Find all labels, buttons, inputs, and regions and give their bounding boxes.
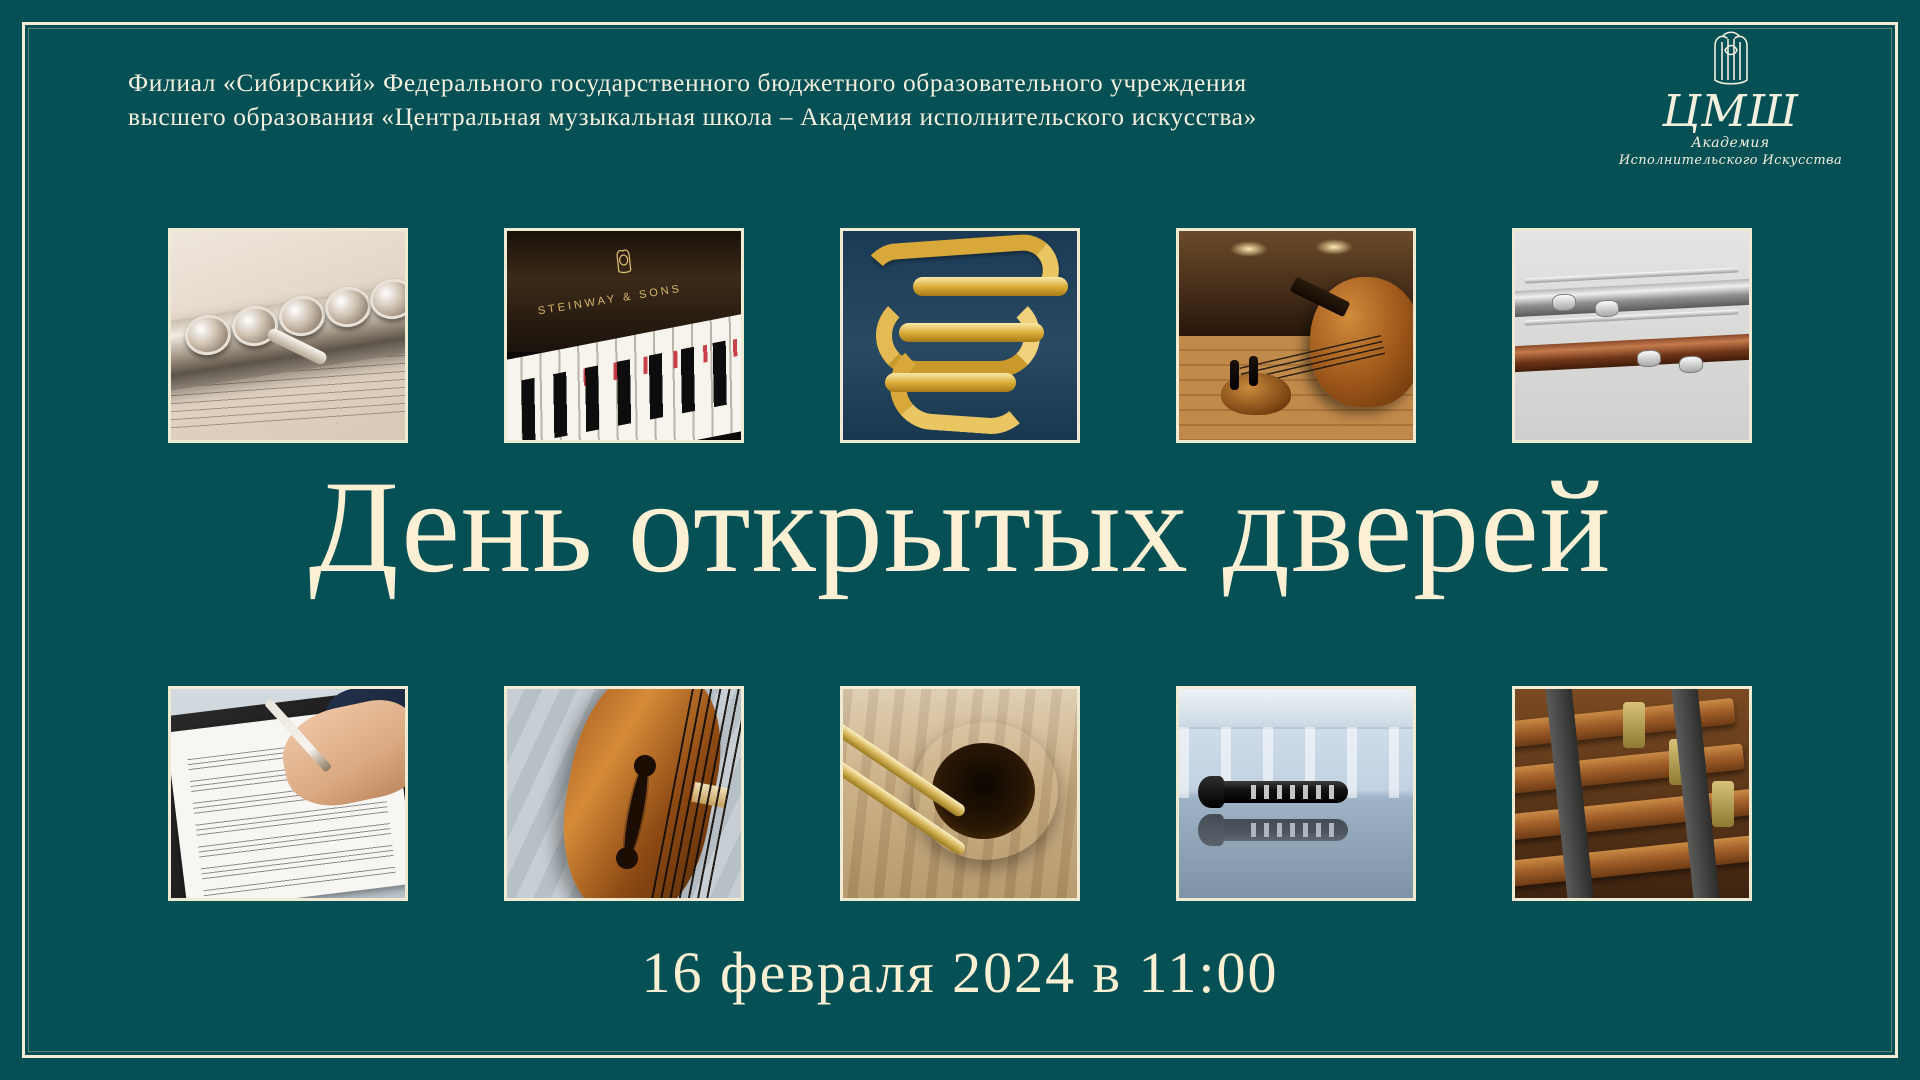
trombone-photo xyxy=(840,686,1080,901)
organization-line-2: высшего образования «Центральная музыкал… xyxy=(128,100,1558,134)
photo-row-bottom xyxy=(0,686,1920,901)
organization-header: Филиал «Сибирский» Федерального государс… xyxy=(128,66,1548,134)
score-writing-photo xyxy=(168,686,408,901)
logo-abbreviation: ЦМШ xyxy=(1613,90,1848,134)
piano-photo: STEINWAY & SONS xyxy=(504,228,744,443)
organization-name-block: Филиал «Сибирский» Федерального государс… xyxy=(128,66,1558,134)
event-date-time: 16 февраля 2024 в 11:00 xyxy=(0,940,1920,1006)
tuba-photo xyxy=(840,228,1080,443)
poster-canvas: Филиал «Сибирский» Федерального государс… xyxy=(0,0,1920,1080)
flute-photo xyxy=(168,228,408,443)
photo-row-top: STEINWAY & SONS xyxy=(0,228,1920,443)
organization-line-1: Филиал «Сибирский» Федерального государс… xyxy=(128,66,1558,100)
violin-photo xyxy=(504,686,744,901)
bassoon-photo xyxy=(1512,228,1752,443)
poster-title: День открытых дверей xyxy=(0,452,1920,602)
clarinet-photo xyxy=(1176,686,1416,901)
cmsh-logo: ЦМШ Академия Исполнительского Искусства xyxy=(1613,30,1848,169)
logo-subtitle-line-2: Исполнительского Искусства xyxy=(1613,152,1848,169)
cello-photo xyxy=(1176,228,1416,443)
lyre-monogram-icon xyxy=(1613,30,1848,88)
marimba-photo xyxy=(1512,686,1752,901)
logo-subtitle-line-1: Академия xyxy=(1613,134,1848,152)
